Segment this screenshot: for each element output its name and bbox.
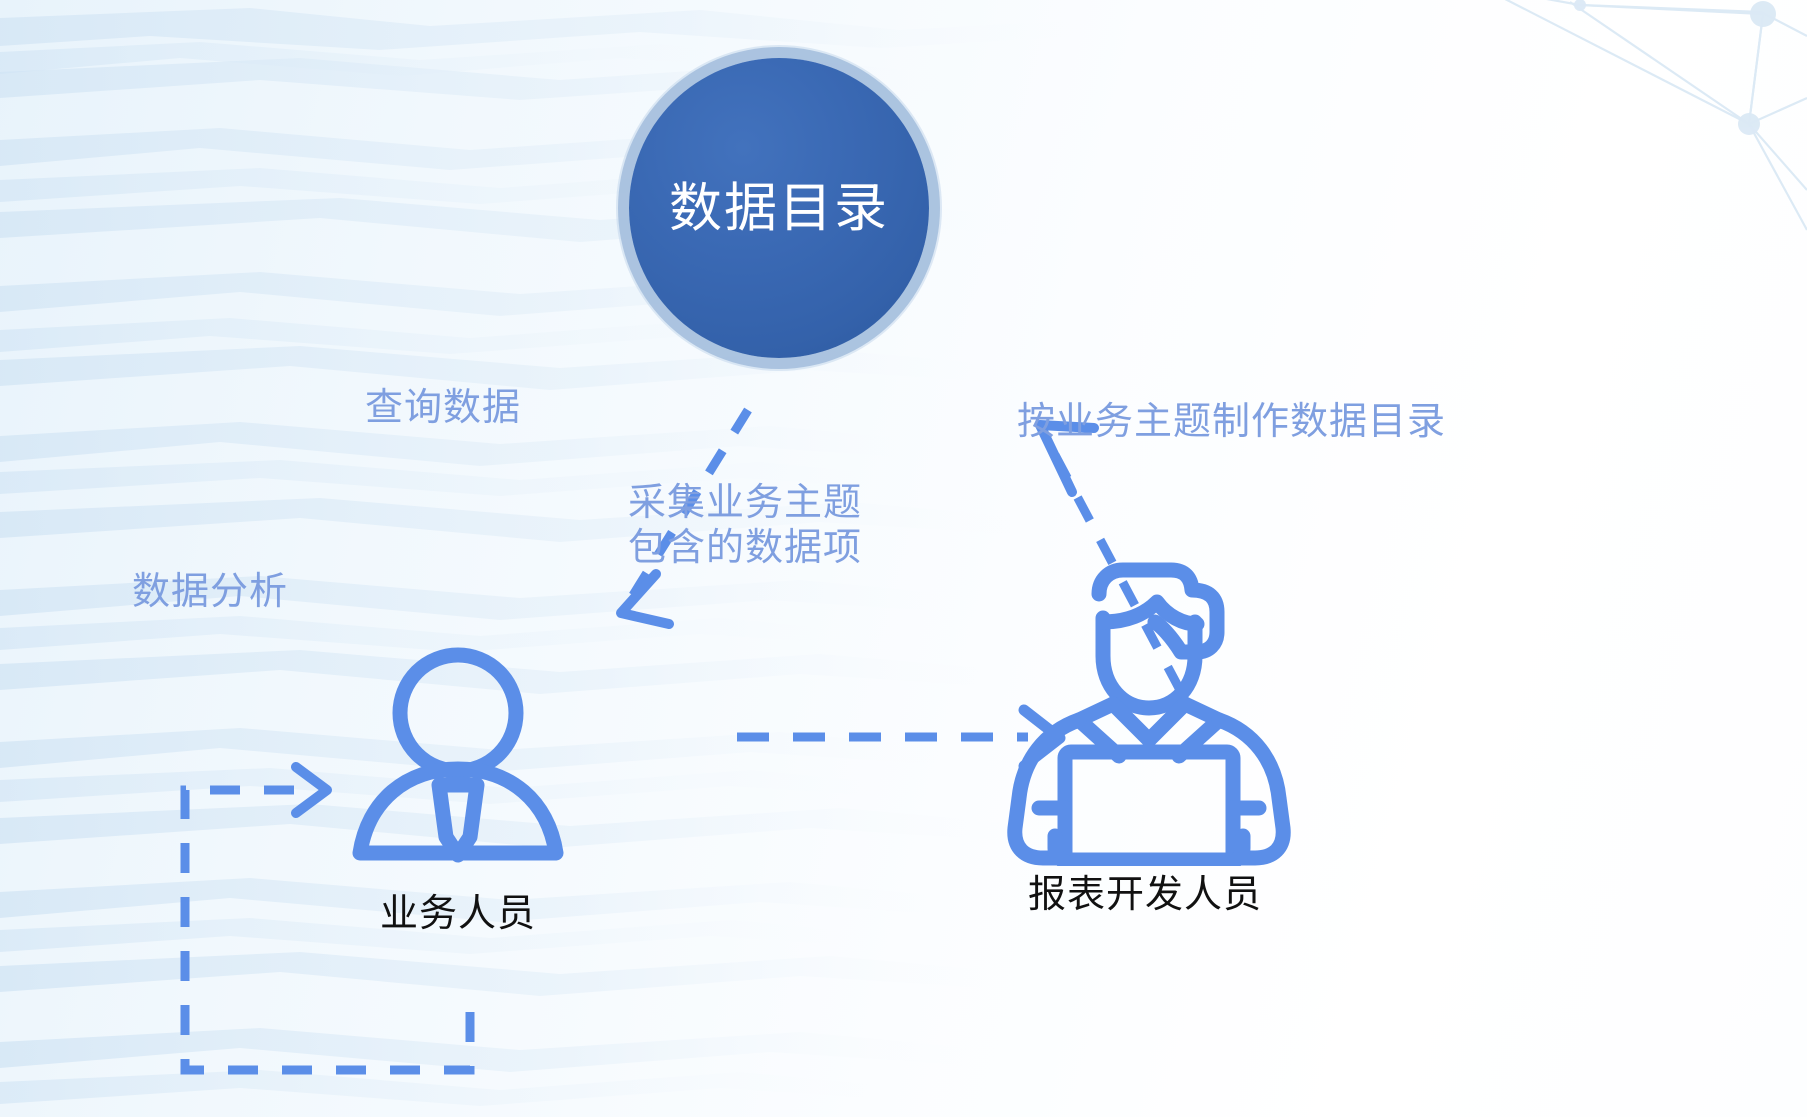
actor-report-developer[interactable]: 报表开发人员 <box>995 536 1295 914</box>
actor-report-developer-label: 报表开发人员 <box>1028 876 1262 914</box>
central-node-data-catalog[interactable]: 数据目录 <box>629 58 929 358</box>
flow-label-collect-items-line2: 包含的数据项 <box>628 526 862 571</box>
central-node-label: 数据目录 <box>669 182 889 235</box>
actor-business-person[interactable]: 业务人员 <box>338 641 578 933</box>
diagram-canvas: 数据目录 查询数据 数据分析 采集业务主题 包含的数据项 按业务主题制作数据目录… <box>0 0 1807 1117</box>
report-developer-icon <box>995 536 1295 866</box>
actor-business-person-label: 业务人员 <box>380 895 536 933</box>
flow-label-data-analysis: 数据分析 <box>132 570 288 615</box>
flow-label-collect-items-line1: 采集业务主题 <box>628 481 862 526</box>
flow-label-collect-items: 采集业务主题 包含的数据项 <box>628 481 862 571</box>
flow-label-query-data: 查询数据 <box>365 386 521 431</box>
business-person-icon <box>338 641 578 881</box>
flow-label-build-catalog: 按业务主题制作数据目录 <box>1017 400 1446 445</box>
